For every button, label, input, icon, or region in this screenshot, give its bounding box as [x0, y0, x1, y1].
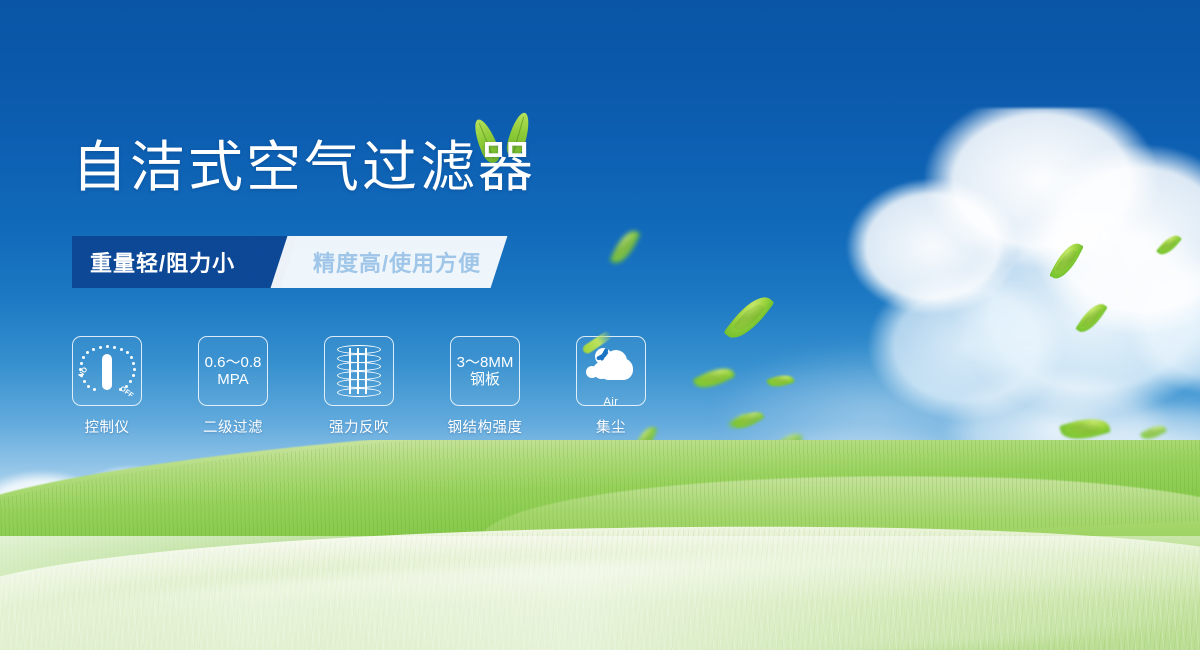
grass-field — [0, 440, 1200, 650]
subtitle-right-text: 精度高/使用方便 — [313, 246, 481, 278]
feature-icon-box: Air — [576, 336, 646, 406]
page-title: 自洁式空气过滤器 — [72, 140, 536, 195]
feature-label: 集尘 — [596, 416, 626, 437]
product-banner: 自洁式空气过滤器 重量轻/阻力小 精度高/使用方便 — [0, 0, 1200, 650]
feature-icon-box: 0.6～0.8 MPA — [198, 336, 268, 406]
feature-label: 控制仪 — [85, 416, 130, 437]
dial-gauge-icon: NO OFF — [79, 343, 135, 399]
air-label: Air — [583, 396, 639, 408]
feature-label: 强力反吹 — [329, 416, 389, 437]
pressure-range-line1: 0.6～0.8 — [205, 354, 262, 371]
feature-item-dust-collection[interactable]: Air 集尘 — [576, 336, 646, 437]
thickness-line1: 3～8MM — [457, 354, 514, 371]
cloud-air-icon: Air — [583, 346, 639, 396]
dial-pointer — [102, 354, 112, 390]
feature-item-controller[interactable]: NO OFF 控制仪 — [72, 336, 142, 437]
dial-label-off: OFF — [118, 385, 134, 399]
feature-label: 二级过滤 — [203, 416, 263, 437]
subtitle-left-panel: 重量轻/阻力小 — [72, 236, 275, 288]
feature-item-two-stage-filter[interactable]: 0.6～0.8 MPA 二级过滤 — [198, 336, 268, 437]
feature-icon-box: NO OFF — [72, 336, 142, 406]
filter-stack-icon — [337, 345, 381, 397]
subtitle-bar: 重量轻/阻力小 精度高/使用方便 — [72, 236, 499, 288]
feature-item-strong-backblow[interactable]: 强力反吹 — [324, 336, 394, 437]
pressure-range-line2: MPA — [217, 371, 248, 388]
feature-label: 钢结构强度 — [448, 416, 523, 437]
feature-icon-box: 3～8MM 钢板 — [450, 336, 520, 406]
feature-item-steel-strength[interactable]: 3～8MM 钢板 钢结构强度 — [450, 336, 520, 437]
feature-list: NO OFF 控制仪 0.6～0.8 MPA 二级过滤 — [72, 336, 646, 437]
subtitle-left-text: 重量轻/阻力小 — [90, 246, 235, 278]
thickness-line2: 钢板 — [470, 371, 500, 388]
subtitle-right-panel: 精度高/使用方便 — [271, 236, 508, 288]
feature-icon-box — [324, 336, 394, 406]
